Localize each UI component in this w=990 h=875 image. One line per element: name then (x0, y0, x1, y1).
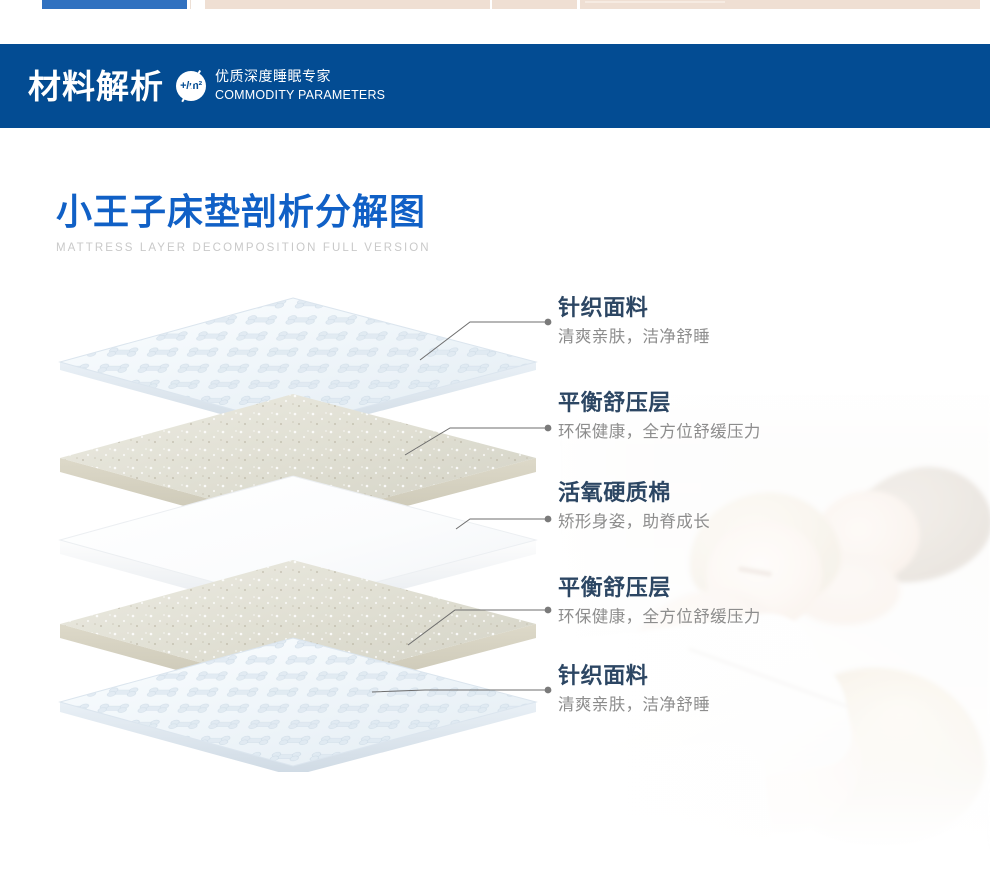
layer-label-4-heading: 平衡舒压层 (558, 576, 761, 602)
banner-content: 材料解析 +/m² 优质深度睡眠专家 COMMODITY PARAMETERS (28, 44, 385, 128)
banner-title: 材料解析 (28, 70, 164, 103)
layer-label-5-heading: 针织面料 (558, 664, 710, 690)
tab-blue-active[interactable] (42, 0, 187, 9)
layer-label-1-sub: 清爽亲肤，洁净舒睡 (558, 327, 710, 347)
page-title-cn: 小王子床垫剖析分解图 (56, 192, 431, 233)
layer-label-2: 平衡舒压层 环保健康，全方位舒缓压力 (558, 391, 761, 442)
layer-label-5: 针织面料 清爽亲肤，洁净舒睡 (558, 664, 710, 715)
tab-beige-2[interactable] (492, 0, 577, 9)
layer-5-knit-fabric (58, 636, 548, 772)
layer-label-3-sub: 矫形身姿，助脊成长 (558, 512, 710, 532)
banner-subtitle-en: COMMODITY PARAMETERS (215, 88, 385, 103)
page-title: 小王子床垫剖析分解图 MATTRESS LAYER DECOMPOSITION … (56, 192, 431, 254)
layer-label-2-heading: 平衡舒压层 (558, 391, 761, 417)
layer-label-1-heading: 针织面料 (558, 296, 710, 322)
layer-label-3: 活氧硬质棉 矫形身姿，助脊成长 (558, 481, 710, 532)
page-title-en: MATTRESS LAYER DECOMPOSITION FULL VERSIO… (56, 242, 431, 254)
area-unit-badge-icon: +/m² (176, 71, 206, 101)
tab-highlight (585, 1, 725, 3)
layer-label-4-sub: 环保健康，全方位舒缓压力 (558, 607, 761, 627)
layer-label-5-sub: 清爽亲肤，洁净舒睡 (558, 695, 710, 715)
layer-label-3-heading: 活氧硬质棉 (558, 481, 710, 507)
tab-divider (190, 0, 191, 9)
tab-beige-1[interactable] (205, 0, 490, 9)
section-banner: 材料解析 +/m² 优质深度睡眠专家 COMMODITY PARAMETERS (0, 44, 990, 128)
layer-label-4: 平衡舒压层 环保健康，全方位舒缓压力 (558, 576, 761, 627)
banner-subtitle-cn: 优质深度睡眠专家 (215, 69, 385, 87)
layer-label-1: 针织面料 清爽亲肤，洁净舒睡 (558, 296, 710, 347)
layer-label-2-sub: 环保健康，全方位舒缓压力 (558, 422, 761, 442)
mattress-exploded-diagram (58, 296, 548, 746)
top-tab-strip (0, 0, 990, 10)
banner-subtitles: 优质深度睡眠专家 COMMODITY PARAMETERS (215, 69, 385, 103)
